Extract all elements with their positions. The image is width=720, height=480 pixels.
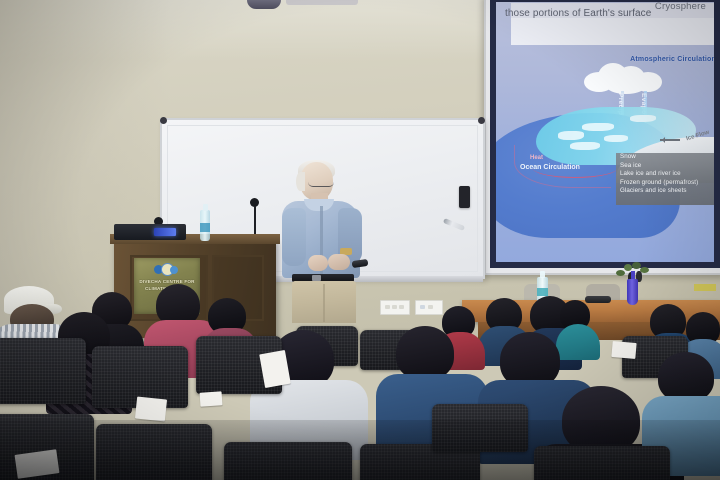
legend-item: Snow bbox=[616, 153, 714, 162]
trouser-seam bbox=[323, 284, 325, 322]
ice-floe bbox=[630, 115, 656, 122]
plaque-line-2: FOR bbox=[184, 279, 194, 284]
ceiling-fixture bbox=[286, 0, 358, 5]
podium-control-unit[interactable] bbox=[114, 224, 186, 240]
heat-label: Heat bbox=[530, 155, 543, 161]
legend-item: Glaciers and ice sheets bbox=[616, 187, 714, 196]
slide-title: Cryosphere bbox=[655, 1, 706, 12]
legend-item: Frozen ground (permafrost) bbox=[616, 179, 714, 188]
handout-paper bbox=[611, 341, 636, 359]
slide-diagram: Atmospheric Circulation Precipitation Ev… bbox=[496, 45, 714, 262]
ocean-circulation-line2: Circulation bbox=[543, 164, 580, 171]
auditorium-chair bbox=[0, 338, 86, 404]
podium-water-bottle bbox=[200, 210, 210, 241]
ocean-circulation-label: Ocean Circulation bbox=[520, 163, 580, 172]
screen-frame: Cryosphere those portions of Earth's sur… bbox=[490, 0, 720, 268]
bottle-label bbox=[200, 223, 210, 232]
ice-floe bbox=[604, 135, 628, 142]
auditorium-chair bbox=[224, 442, 352, 480]
whiteboard-corner-fastener bbox=[478, 117, 485, 124]
wall-switch-plate-2 bbox=[415, 300, 443, 315]
institute-logo-icon bbox=[154, 263, 180, 276]
auditorium-chair bbox=[96, 424, 212, 480]
legend-item: Lake ice and river ice bbox=[616, 170, 714, 179]
ice-flow-arrow-icon bbox=[660, 139, 680, 141]
slide-body-text: those portions of Earth's surface bbox=[505, 8, 651, 19]
handout-paper bbox=[200, 391, 223, 407]
glasses-icon bbox=[308, 179, 334, 187]
auditorium-chair bbox=[534, 446, 670, 480]
ocean-circulation-line1: Ocean bbox=[520, 164, 541, 171]
wall-notice-tag bbox=[694, 284, 716, 291]
projection-screen: Cryosphere those portions of Earth's sur… bbox=[484, 0, 720, 275]
ceiling-projector bbox=[247, 0, 281, 9]
ice-floe bbox=[558, 131, 584, 140]
presenter-hair-side bbox=[296, 172, 305, 191]
presentation-clicker bbox=[352, 259, 369, 268]
slide-body-band bbox=[511, 18, 720, 45]
presenter-hand-left bbox=[308, 255, 328, 271]
wall-switch-plate-1 bbox=[380, 300, 410, 315]
flower-vase bbox=[627, 279, 638, 305]
handout-paper bbox=[135, 396, 167, 421]
bottle-label bbox=[537, 288, 548, 296]
whiteboard-corner-fastener bbox=[160, 117, 167, 124]
handout-paper bbox=[259, 350, 291, 388]
ice-floe bbox=[582, 123, 614, 131]
legend-item: Sea ice bbox=[616, 162, 714, 171]
presentation-remote bbox=[585, 296, 611, 303]
presenter-hand-right bbox=[328, 254, 350, 270]
slide-legend: Snow Sea ice Lake ice and river ice Froz… bbox=[616, 153, 714, 205]
presenter-arm-left bbox=[282, 208, 306, 266]
podium-display-screen bbox=[154, 228, 176, 236]
whiteboard-eraser bbox=[459, 186, 470, 208]
auditorium-chair bbox=[432, 404, 528, 452]
cloud-icon bbox=[584, 62, 662, 92]
presentation-slide: Cryosphere those portions of Earth's sur… bbox=[496, 2, 714, 262]
presenter bbox=[276, 160, 376, 320]
lecture-hall-photo: Cryosphere those portions of Earth's sur… bbox=[0, 0, 720, 480]
